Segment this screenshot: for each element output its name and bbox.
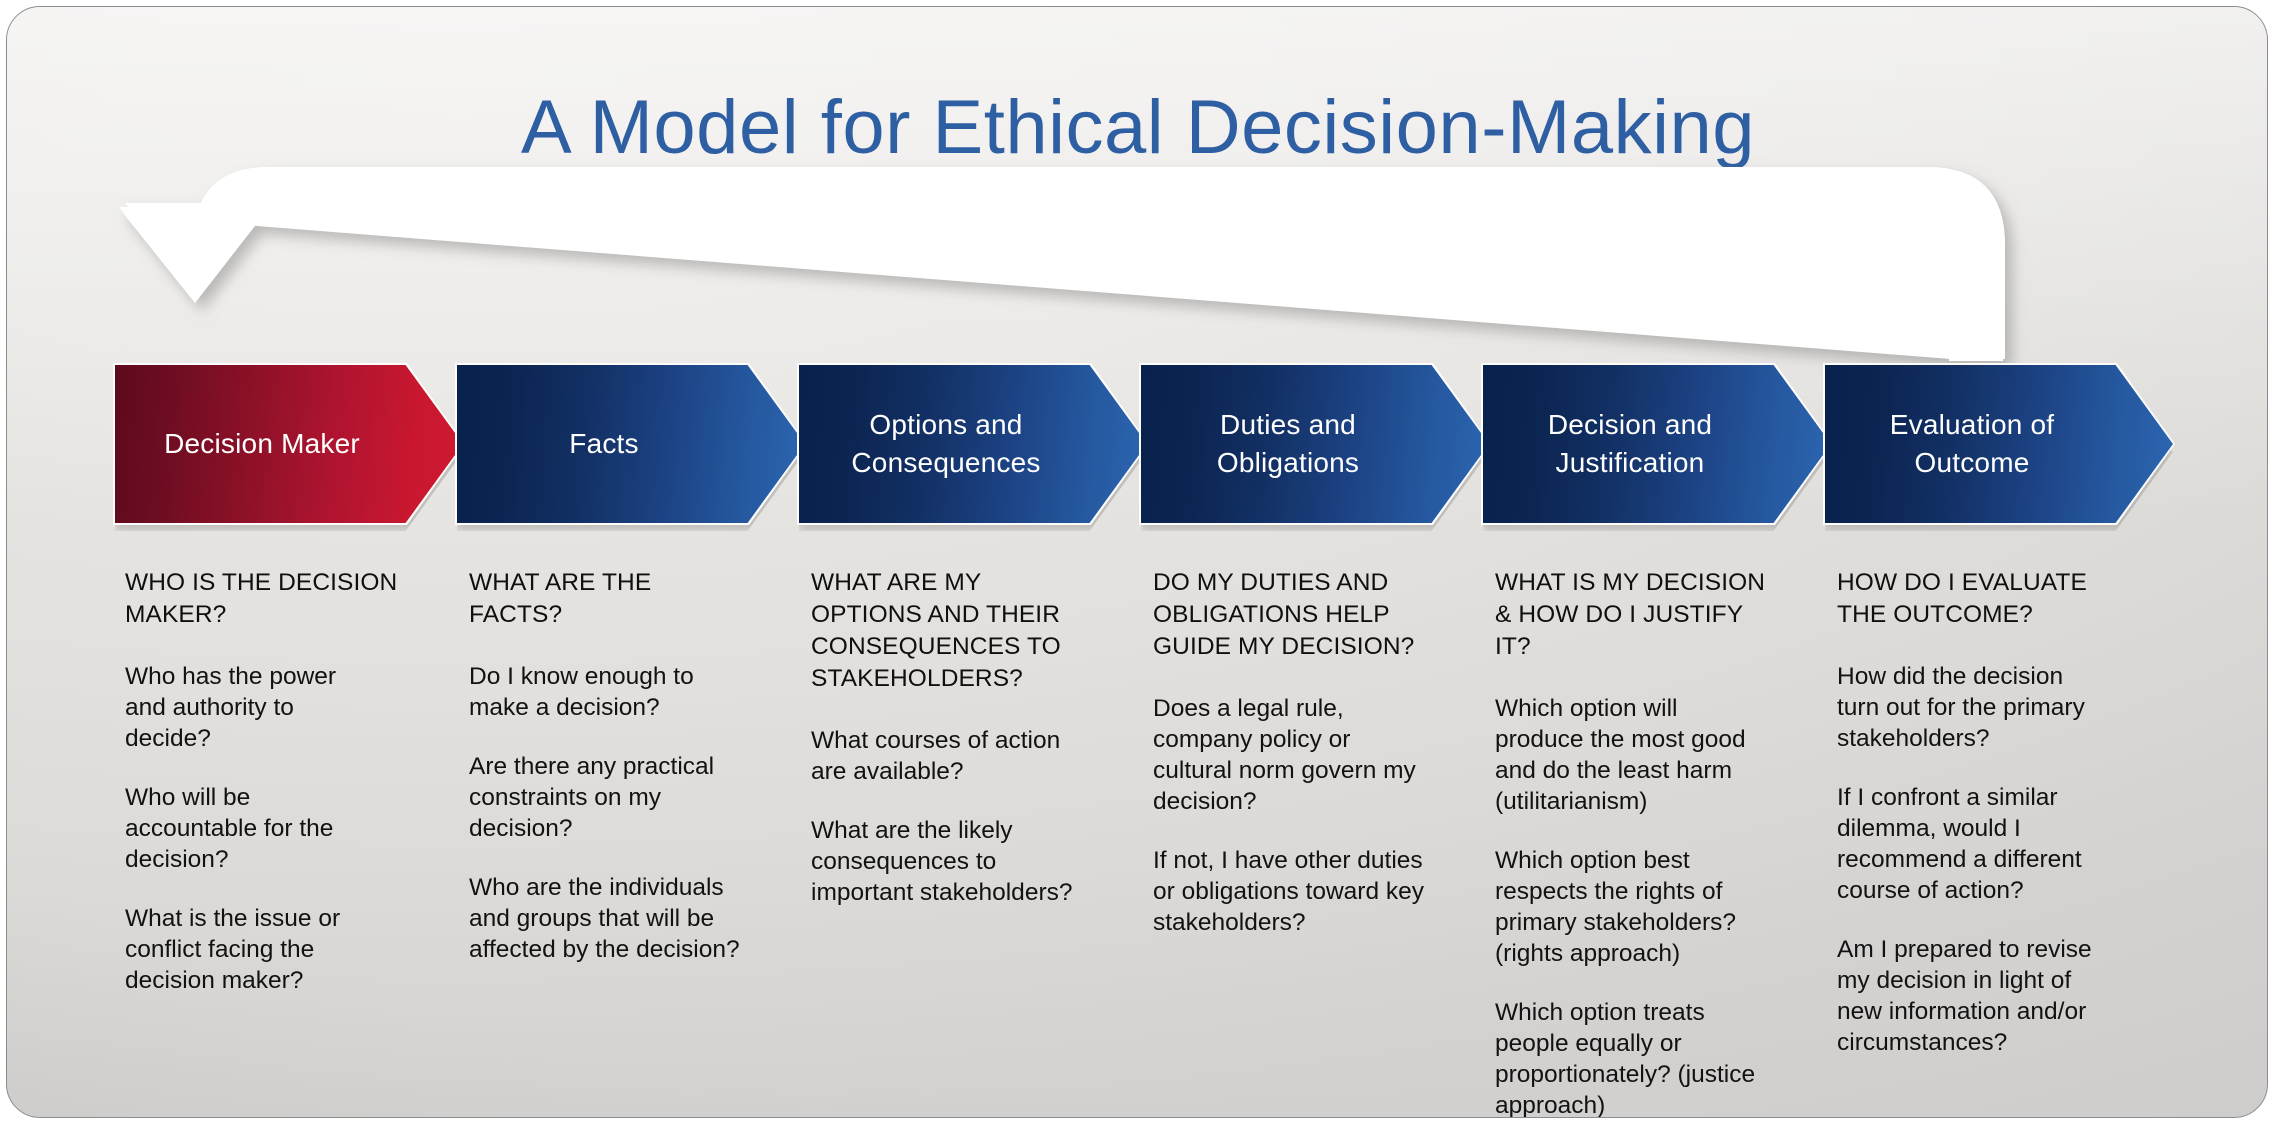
column-question: Which option best respects the rights of… — [1495, 845, 1773, 969]
chevron-step-3[interactable]: Options and Consequences — [799, 365, 1147, 523]
column-heading: DO MY DUTIES AND OBLIGATIONS HELP GUIDE … — [1153, 567, 1431, 663]
chevron-step-label: Duties and Obligations — [1217, 406, 1359, 482]
question-columns: WHO IS THE DECISION MAKER?Who has the po… — [7, 567, 2268, 1107]
chevron-step-2[interactable]: Facts — [457, 365, 805, 523]
question-column-2: WHAT ARE THE FACTS?Do I know enough to m… — [469, 567, 747, 965]
column-heading: WHO IS THE DECISION MAKER? — [125, 567, 403, 631]
slide-frame: A Model for Ethical Decision-Making Deci… — [6, 6, 2268, 1118]
column-heading: WHAT ARE THE FACTS? — [469, 567, 747, 631]
chevron-step-label: Options and Consequences — [851, 406, 1040, 482]
column-question: Which option treats people equally or pr… — [1495, 997, 1773, 1118]
column-question: Who has the power and authority to decid… — [125, 661, 403, 754]
column-question: If not, I have other duties or obligatio… — [1153, 845, 1431, 938]
column-question: What is the issue or conflict facing the… — [125, 903, 403, 996]
process-chevron-row: Decision MakerFactsOptions and Consequen… — [7, 365, 2268, 525]
question-column-3: WHAT ARE MY OPTIONS AND THEIR CONSEQUENC… — [811, 567, 1089, 908]
column-heading: WHAT ARE MY OPTIONS AND THEIR CONSEQUENC… — [811, 567, 1089, 695]
page-title: A Model for Ethical Decision-Making — [7, 85, 2268, 171]
chevron-step-label: Evaluation of Outcome — [1890, 406, 2055, 482]
column-question: How did the decision turn out for the pr… — [1837, 661, 2115, 754]
column-heading: HOW DO I EVALUATE THE OUTCOME? — [1837, 567, 2115, 631]
question-column-4: DO MY DUTIES AND OBLIGATIONS HELP GUIDE … — [1153, 567, 1431, 938]
chevron-step-1[interactable]: Decision Maker — [115, 365, 463, 523]
chevron-step-6[interactable]: Evaluation of Outcome — [1825, 365, 2173, 523]
column-question: Does a legal rule, company policy or cul… — [1153, 693, 1431, 817]
column-question: What are the likely consequences to impo… — [811, 815, 1089, 908]
question-column-6: HOW DO I EVALUATE THE OUTCOME?How did th… — [1837, 567, 2115, 1058]
column-question: Which option will produce the most good … — [1495, 693, 1773, 817]
question-column-5: WHAT IS MY DECISION & HOW DO I JUSTIFY I… — [1495, 567, 1773, 1118]
column-question: Are there any practical constraints on m… — [469, 751, 747, 844]
question-column-1: WHO IS THE DECISION MAKER?Who has the po… — [125, 567, 403, 996]
chevron-step-5[interactable]: Decision and Justification — [1483, 365, 1831, 523]
chevron-step-label: Decision Maker — [164, 425, 360, 463]
column-question: Who will be accountable for the decision… — [125, 782, 403, 875]
column-question: What courses of action are available? — [811, 725, 1089, 787]
column-question: Am I prepared to revise my decision in l… — [1837, 934, 2115, 1058]
column-question: If I confront a similar dilemma, would I… — [1837, 782, 2115, 906]
column-question: Who are the individuals and groups that … — [469, 872, 747, 965]
chevron-step-label: Decision and Justification — [1548, 406, 1712, 482]
chevron-step-4[interactable]: Duties and Obligations — [1141, 365, 1489, 523]
column-heading: WHAT IS MY DECISION & HOW DO I JUSTIFY I… — [1495, 567, 1773, 663]
column-question: Do I know enough to make a decision? — [469, 661, 747, 723]
chevron-step-label: Facts — [569, 425, 638, 463]
